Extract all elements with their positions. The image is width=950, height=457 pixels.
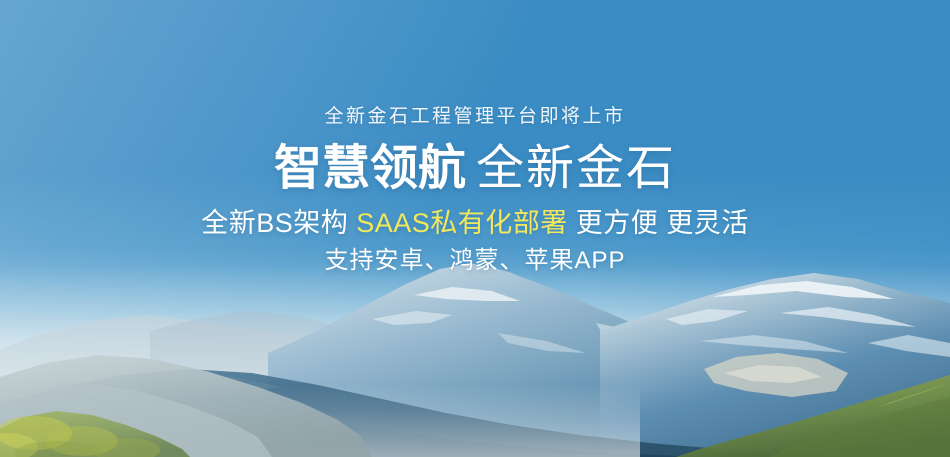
headline-strong: 智慧领航	[274, 142, 466, 195]
banner-copy: 全新金石工程管理平台即将上市 智慧领航全新金石 全新BS架构SAAS私有化部署更…	[0, 104, 950, 278]
banner-eyebrow: 全新金石工程管理平台即将上市	[0, 104, 950, 130]
mountain-scenery	[0, 257, 950, 457]
banner-tagline: 全新BS架构SAAS私有化部署更方便更灵活	[0, 204, 950, 242]
tagline-part-2: 更方便	[576, 208, 659, 238]
hero-banner: 全新金石工程管理平台即将上市 智慧领航全新金石 全新BS架构SAAS私有化部署更…	[0, 0, 950, 457]
banner-platforms: 支持安卓、鸿蒙、苹果APP	[0, 244, 950, 278]
headline-light: 全新金石	[476, 142, 676, 195]
tagline-part-1: 全新BS架构	[201, 208, 348, 238]
tagline-highlight: SAAS私有化部署	[356, 208, 568, 238]
tagline-part-3: 更灵活	[666, 208, 749, 238]
banner-headline: 智慧领航全新金石	[0, 138, 950, 200]
